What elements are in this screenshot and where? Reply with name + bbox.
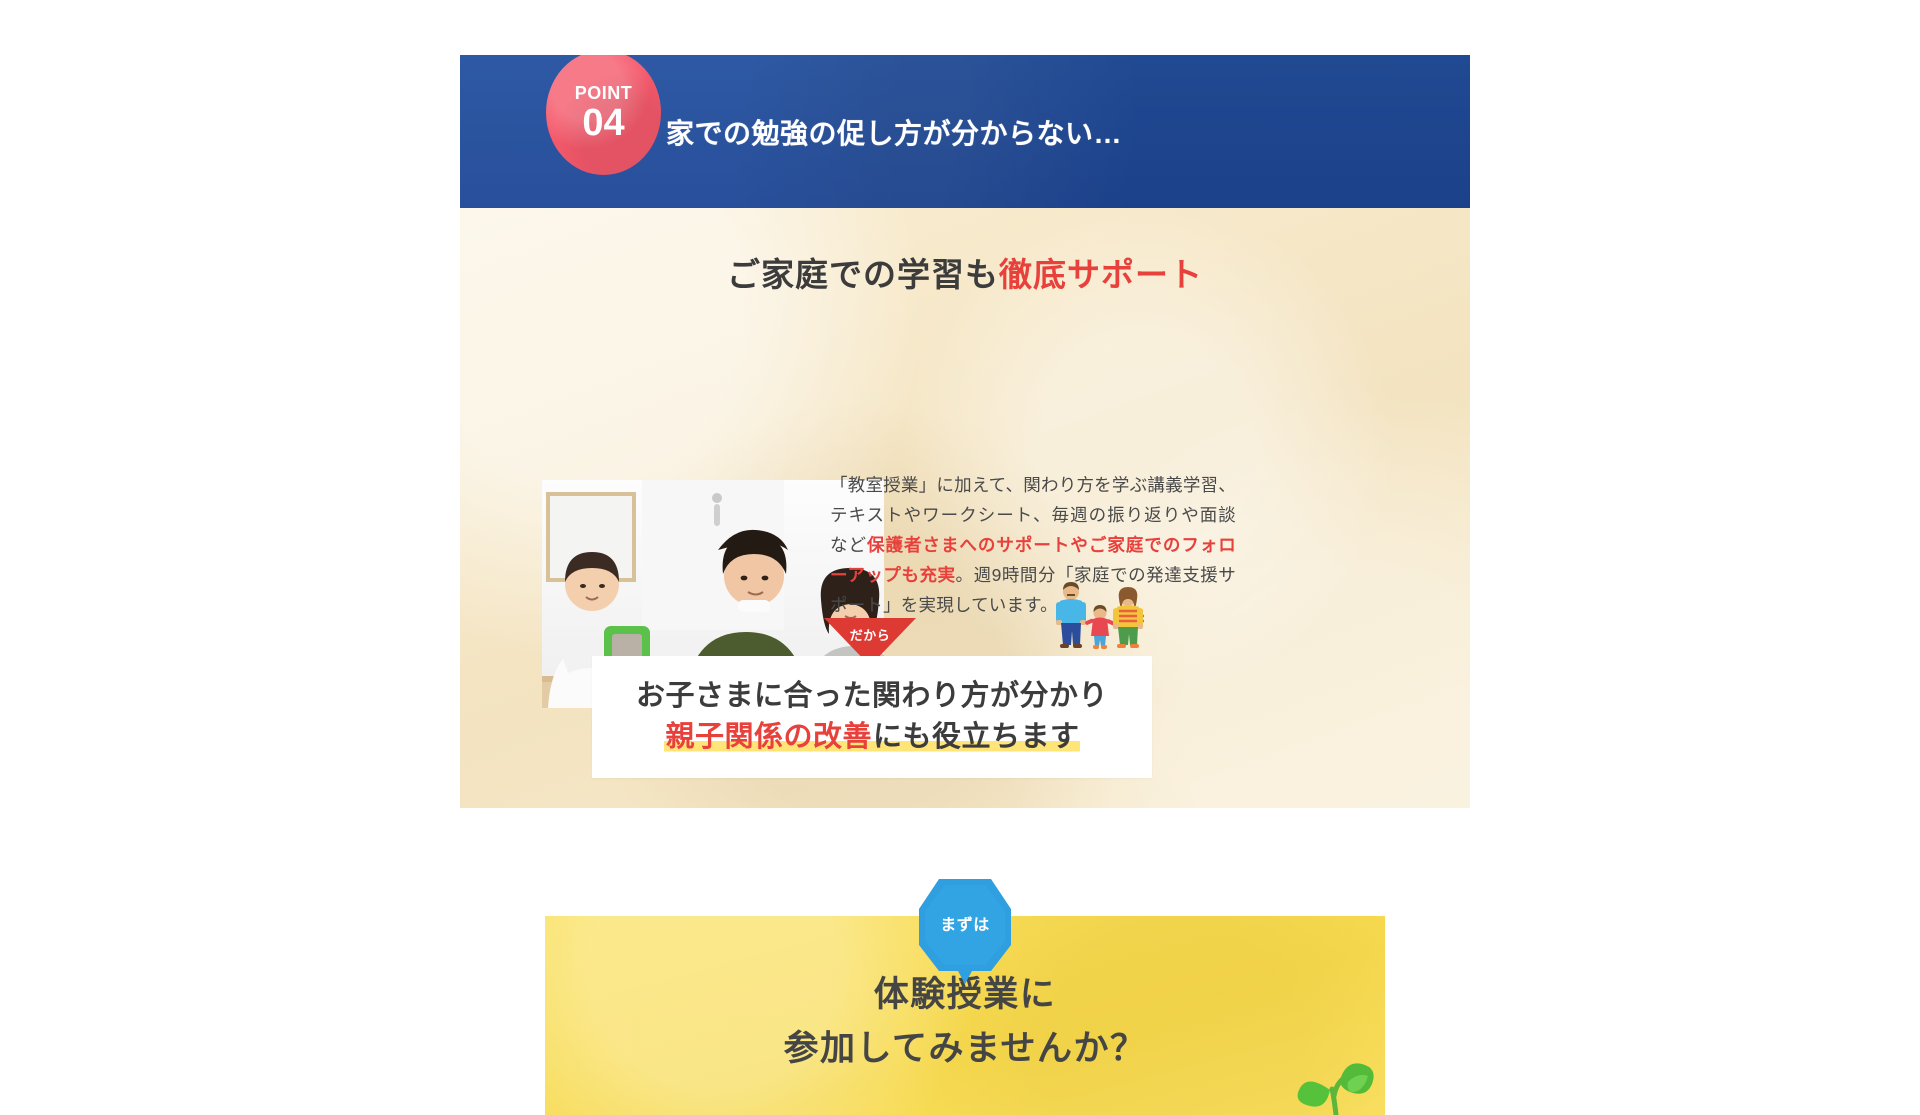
callout-line-2: 親子関係の改善にも役立ちます bbox=[664, 717, 1079, 758]
mazuha-label: まずは bbox=[915, 911, 1015, 935]
family-illustration-icon bbox=[1052, 580, 1148, 652]
point-number-badge: POINT 04 bbox=[546, 55, 661, 175]
callout-line-1: お子さまに合った関わり方が分かり bbox=[636, 676, 1108, 717]
mazuha-hexagon-badge: まずは bbox=[915, 877, 1015, 985]
point-badge-number: 04 bbox=[582, 104, 624, 142]
callout-line-2-accent: 親子関係の改善 bbox=[664, 721, 873, 753]
dakara-label: だから bbox=[824, 625, 916, 644]
cta-line-2: 参加してみませんか？ bbox=[545, 1022, 1385, 1076]
section-title-accent: 徹底サポート bbox=[999, 256, 1203, 293]
section-title: ご家庭での学習も徹底サポート bbox=[460, 248, 1470, 296]
callout-line-2-rest: にも役立ちます bbox=[873, 721, 1080, 753]
sprout-illustration-icon bbox=[1288, 1056, 1384, 1115]
point-card-header: POINT 04 家での勉強の促し方が分からない… bbox=[460, 55, 1470, 208]
point-badge-label: POINT bbox=[575, 84, 633, 102]
point-card-body: ご家庭での学習も徹底サポート bbox=[460, 208, 1470, 808]
page-root: POINT 04 家での勉強の促し方が分からない… ご家庭での学習も徹底サポート bbox=[0, 0, 1920, 1115]
body-paragraph: 「教室授業」に加えて、関わり方を学ぶ講義学習、テキストやワークシート、毎週の振り… bbox=[830, 470, 1236, 620]
section-title-plain: ご家庭での学習も bbox=[727, 256, 999, 293]
point-04-card: POINT 04 家での勉強の促し方が分からない… ご家庭での学習も徹底サポート bbox=[460, 55, 1470, 808]
conclusion-callout: お子さまに合った関わり方が分かり 親子関係の改善にも役立ちます bbox=[592, 656, 1152, 778]
point-header-title: 家での勉強の促し方が分からない… bbox=[666, 55, 1122, 208]
